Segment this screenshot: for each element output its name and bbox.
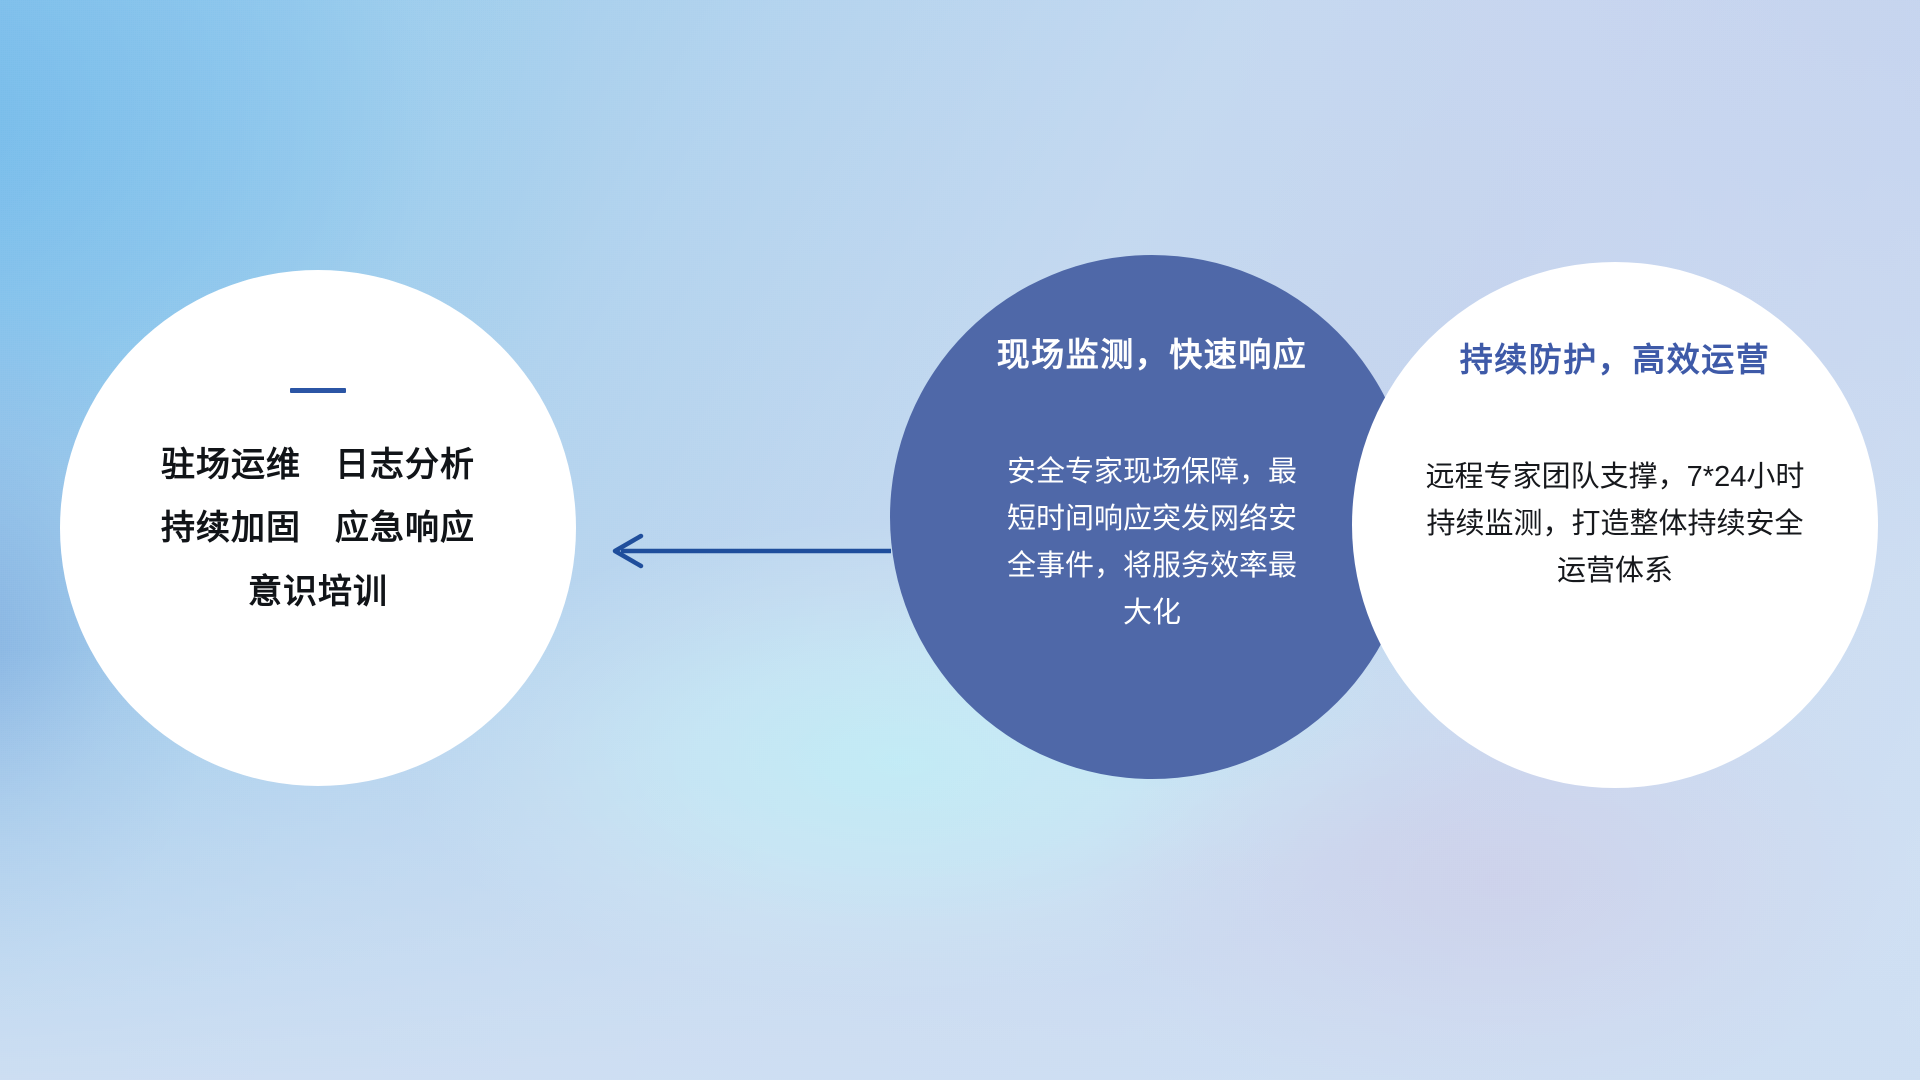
capability-keyword: 驻场运维 <box>161 447 301 484</box>
continuous-protection-circle[interactable]: 持续防护，高效运营 远程专家团队支撑，7*24小时持续监测，打造整体持续安全运营… <box>1352 262 1878 788</box>
capability-keyword-row: 意识培训 <box>248 574 388 611</box>
capability-keyword: 持续加固 <box>161 510 301 547</box>
capability-keyword: 意识培训 <box>248 574 388 611</box>
horizontal-dash-icon <box>290 388 346 393</box>
onsite-monitoring-circle[interactable]: 现场监测，快速响应 安全专家现场保障，最短时间响应突发网络安全事件，将服务效率最… <box>890 255 1414 779</box>
onsite-monitoring-body: 安全专家现场保障，最短时间响应突发网络安全事件，将服务效率最大化 <box>1002 449 1302 637</box>
capability-circle-left[interactable]: 驻场运维 日志分析 持续加固 应急响应 意识培训 <box>60 270 576 786</box>
capability-keyword-row: 持续加固 应急响应 <box>161 510 475 547</box>
onsite-monitoring-title: 现场监测，快速响应 <box>997 335 1308 375</box>
continuous-protection-body: 远程专家团队支撑，7*24小时持续监测，打造整体持续安全运营体系 <box>1424 454 1806 595</box>
capability-keyword: 应急响应 <box>335 510 475 547</box>
capability-keyword-list: 驻场运维 日志分析 持续加固 应急响应 意识培训 <box>161 447 475 611</box>
capability-keyword: 日志分析 <box>335 447 475 484</box>
capability-keyword-row: 驻场运维 日志分析 <box>161 447 475 484</box>
slide-canvas: 驻场运维 日志分析 持续加固 应急响应 意识培训 现场监测，快速响应 安全专家现… <box>0 0 1920 1080</box>
continuous-protection-title: 持续防护，高效运营 <box>1460 340 1771 380</box>
arrow-left-icon <box>595 516 895 586</box>
